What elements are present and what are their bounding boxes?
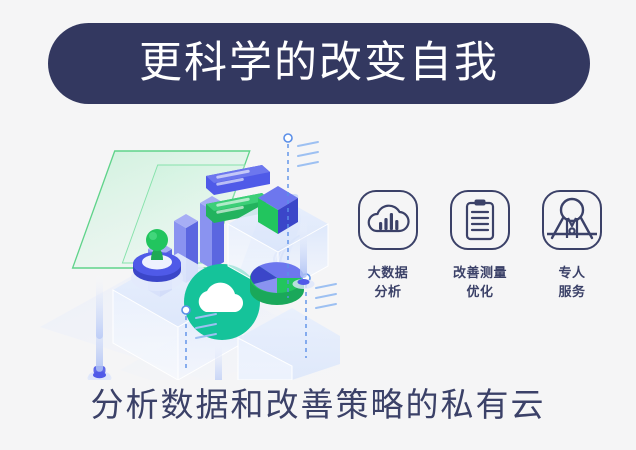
feature-dedicated-service[interactable]: 专人 服务: [532, 190, 612, 302]
clipboard-document-icon: [460, 198, 500, 242]
poster-page: 更科学的改变自我: [0, 0, 636, 450]
isometric-private-cloud-illustration: [0, 112, 340, 380]
header-banner: 更科学的改变自我: [48, 23, 590, 104]
feature-label-line2: 服务: [558, 283, 585, 302]
cloud-bar-chart-icon-box: [358, 190, 418, 250]
feature-label-line1: 大数据: [368, 266, 409, 281]
features-row: 大数据 分析 改善测量 优化: [348, 190, 612, 330]
feature-label-line2: 优化: [453, 283, 507, 302]
cloud-bar-chart-icon: [366, 200, 410, 240]
tagline: 分析数据和改善策略的私有云: [0, 383, 636, 427]
feature-label-big-data-analysis: 大数据 分析: [368, 264, 409, 302]
feature-label-line1: 改善测量: [453, 266, 507, 281]
feature-label-dedicated-service: 专人 服务: [558, 264, 585, 302]
feature-label-line1: 专人: [558, 266, 585, 281]
feature-big-data-analysis[interactable]: 大数据 分析: [348, 190, 428, 302]
service-person-icon-box: [542, 190, 602, 250]
feature-label-improvement-measurement: 改善测量 优化: [453, 264, 507, 302]
service-person-icon: [546, 194, 598, 246]
feature-improvement-measurement[interactable]: 改善测量 优化: [440, 190, 520, 302]
page-title: 更科学的改变自我: [139, 42, 499, 85]
clipboard-document-icon-box: [450, 190, 510, 250]
feature-label-line2: 分析: [368, 283, 409, 302]
